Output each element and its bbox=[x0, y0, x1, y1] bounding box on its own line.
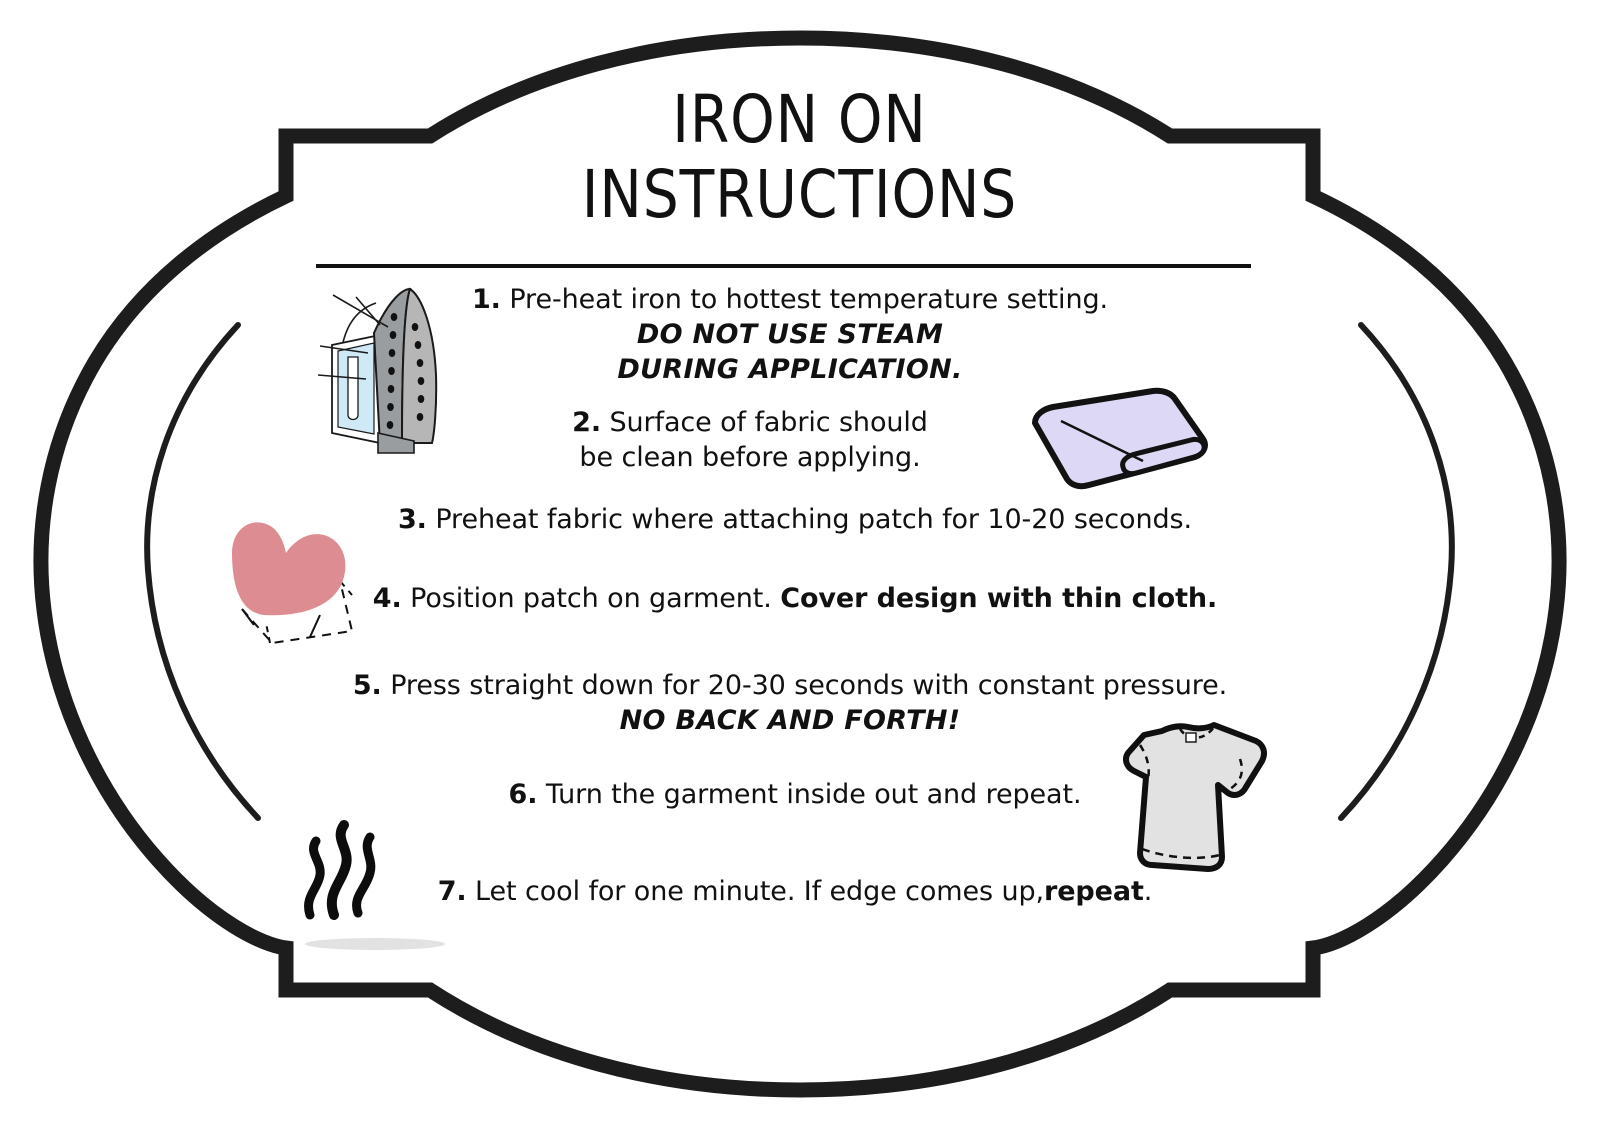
step-1-emphasis-line-1: DO NOT USE STEAM bbox=[330, 317, 1250, 352]
step-6-text: Turn the garment inside out and repeat. bbox=[546, 779, 1082, 810]
step-4-bold-text: Cover design with thin cloth. bbox=[780, 583, 1217, 614]
step-1-emphasis-line-2: DURING APPLICATION. bbox=[330, 352, 1250, 387]
step-3: 3. Preheat fabric where attaching patch … bbox=[330, 502, 1260, 537]
step-3-text: Preheat fabric where attaching patch for… bbox=[435, 504, 1192, 535]
page-title: IRON ON INSTRUCTIONS bbox=[0, 86, 1599, 229]
step-1: 1. Pre-heat iron to hottest temperature … bbox=[330, 282, 1250, 387]
heart-patch-icon bbox=[214, 505, 374, 655]
step-7-text-after: . bbox=[1144, 876, 1152, 907]
step-4-number: 4. bbox=[373, 583, 402, 614]
step-1-text: Pre-heat iron to hottest temperature set… bbox=[509, 284, 1108, 315]
step-7-text-before: Let cool for one minute. If edge comes u… bbox=[475, 876, 1044, 907]
step-1-number: 1. bbox=[472, 284, 501, 315]
step-7: 7. Let cool for one minute. If edge come… bbox=[380, 874, 1210, 909]
title-line-2: INSTRUCTIONS bbox=[112, 161, 1487, 228]
step-5-text: Press straight down for 20-30 seconds wi… bbox=[390, 670, 1227, 701]
step-4: 4. Position patch on garment. Cover desi… bbox=[330, 581, 1260, 616]
step-1-main: 1. Pre-heat iron to hottest temperature … bbox=[330, 282, 1250, 317]
title-line-1: IRON ON bbox=[112, 86, 1487, 153]
step-5-number: 5. bbox=[353, 670, 382, 701]
step-2: 2. Surface of fabric should be clean bef… bbox=[470, 405, 1030, 475]
step-7-bold-text: repeat bbox=[1044, 876, 1144, 907]
step-6: 6. Turn the garment inside out and repea… bbox=[380, 777, 1210, 812]
step-4-text: Position patch on garment. bbox=[410, 583, 772, 614]
step-2-line-1: 2. Surface of fabric should bbox=[470, 405, 1030, 440]
steam-icon bbox=[300, 815, 390, 930]
title-divider bbox=[316, 264, 1251, 268]
tshirt-icon bbox=[1100, 715, 1280, 880]
step-5-main: 5. Press straight down for 20-30 seconds… bbox=[290, 668, 1290, 703]
step-2-text-line-2: be clean before applying. bbox=[470, 440, 1030, 475]
step-3-number: 3. bbox=[398, 504, 427, 535]
folded-fabric-icon bbox=[1005, 385, 1215, 495]
iron-on-instructions-card: IRON ON INSTRUCTIONS 1. Pre-heat iron to… bbox=[0, 0, 1599, 1127]
step-6-number: 6. bbox=[509, 779, 538, 810]
step-2-text-line-1: Surface of fabric should bbox=[610, 407, 928, 438]
step-7-number: 7. bbox=[438, 876, 467, 907]
iron-icon bbox=[318, 283, 448, 458]
step-2-number: 2. bbox=[572, 407, 601, 438]
